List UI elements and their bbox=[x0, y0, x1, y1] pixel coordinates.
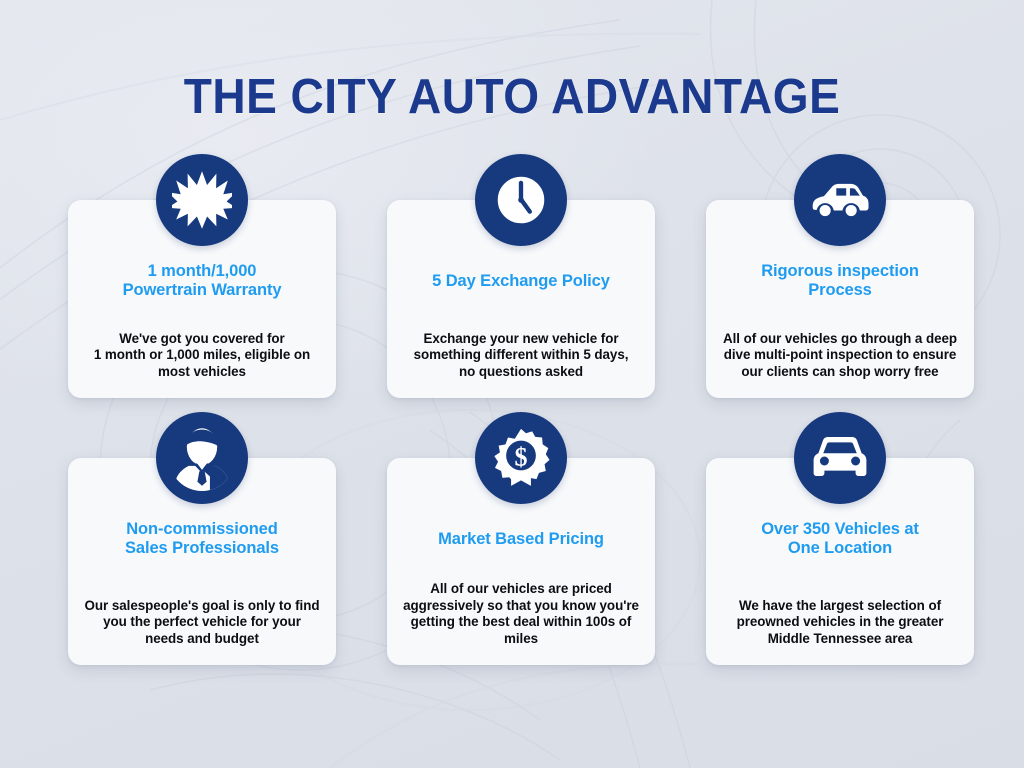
advantage-body: All of our vehicles go through a deepdiv… bbox=[723, 331, 957, 383]
advantage-card-powertrain-warranty[interactable]: 1 month/1,000Powertrain Warranty We've g… bbox=[68, 200, 336, 398]
starburst-icon bbox=[156, 154, 248, 246]
svg-text:$: $ bbox=[514, 442, 527, 471]
advantage-body: Exchange your new vehicle forsomething d… bbox=[414, 331, 629, 383]
car-side-icon bbox=[794, 154, 886, 246]
advantage-card-non-commissioned-sales[interactable]: Non-commissionedSales Professionals Our … bbox=[68, 458, 336, 665]
infographic-page: { "page": { "title": "THE CITY AUTO ADVA… bbox=[0, 0, 1024, 768]
advantage-heading: Market Based Pricing bbox=[438, 520, 604, 558]
advantage-card-exchange-policy[interactable]: 5 Day Exchange Policy Exchange your new … bbox=[387, 200, 655, 398]
advantage-heading: Over 350 Vehicles atOne Location bbox=[761, 520, 919, 558]
advantage-card-rigorous-inspection[interactable]: Rigorous inspectionProcess All of our ve… bbox=[706, 200, 974, 398]
advantage-card-vehicle-selection[interactable]: Over 350 Vehicles atOne Location We have… bbox=[706, 458, 974, 665]
advantage-body: All of our vehicles are pricedaggressive… bbox=[401, 581, 641, 649]
advantage-heading: Non-commissionedSales Professionals bbox=[125, 520, 279, 558]
advantage-heading: Rigorous inspectionProcess bbox=[761, 262, 919, 300]
advantage-card-market-based-pricing[interactable]: $ Market Based Pricing All of our vehicl… bbox=[387, 458, 655, 665]
advantage-body: We've got you covered for1 month or 1,00… bbox=[94, 331, 310, 383]
advantages-grid: 1 month/1,000Powertrain Warranty We've g… bbox=[68, 200, 974, 665]
advantage-heading: 1 month/1,000Powertrain Warranty bbox=[123, 262, 282, 300]
page-title-wrap: THE CITY AUTO ADVANTAGE bbox=[0, 70, 1024, 124]
car-front-icon bbox=[794, 412, 886, 504]
advantage-body: We have the largest selection ofpreowned… bbox=[737, 598, 944, 650]
advantage-body: Our salespeople's goal is only to findyo… bbox=[85, 598, 320, 650]
clock-icon bbox=[475, 154, 567, 246]
page-title: THE CITY AUTO ADVANTAGE bbox=[31, 70, 994, 124]
advantage-heading: 5 Day Exchange Policy bbox=[432, 262, 610, 300]
salesperson-icon bbox=[156, 412, 248, 504]
dollar-badge-icon: $ bbox=[475, 412, 567, 504]
